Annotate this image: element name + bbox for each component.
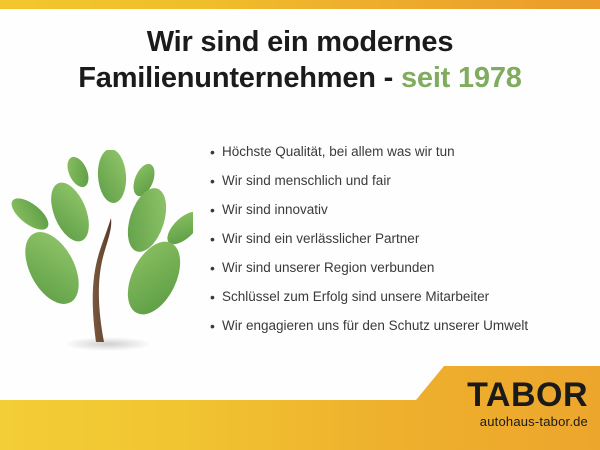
list-item: • Wir sind unserer Region verbunden: [210, 258, 595, 287]
list-item: • Wir sind menschlich und fair: [210, 171, 595, 200]
bullet-marker-icon: •: [210, 171, 222, 191]
list-item: • Höchste Qualität, bei allem was wir tu…: [210, 142, 595, 171]
tree-foliage: [8, 150, 193, 323]
tree-shadow: [64, 337, 152, 351]
brand-banner: TABOR autohaus-tabor.de: [0, 366, 600, 450]
headline-line-2-main: Familienunternehmen -: [78, 62, 401, 94]
list-item: • Schlüssel zum Erfolg sind unsere Mitar…: [210, 287, 595, 316]
headline-line-1: Wir sind ein modernes: [0, 24, 600, 60]
bullet-marker-icon: •: [210, 229, 222, 249]
bullet-marker-icon: •: [210, 142, 222, 162]
list-item-label: Wir engagieren uns für den Schutz unsere…: [222, 316, 528, 336]
bullet-marker-icon: •: [210, 316, 222, 336]
top-accent-bar: [0, 0, 600, 9]
list-item-label: Wir sind menschlich und fair: [222, 171, 391, 191]
tree-icon: [8, 150, 193, 355]
list-item-label: Wir sind unserer Region verbunden: [222, 258, 434, 278]
list-item-label: Wir sind ein verlässlicher Partner: [222, 229, 419, 249]
list-item: • Wir sind ein verlässlicher Partner: [210, 229, 595, 258]
list-item-label: Wir sind innovativ: [222, 200, 328, 220]
tree-trunk: [93, 218, 112, 342]
list-item: • Wir sind innovativ: [210, 200, 595, 229]
headline-accent-year: seit 1978: [401, 62, 522, 94]
logo-wordmark: TABOR: [467, 377, 588, 413]
value-list: • Höchste Qualität, bei allem was wir tu…: [210, 142, 595, 345]
logo-tagline: autohaus-tabor.de: [467, 414, 588, 430]
list-item-label: Höchste Qualität, bei allem was wir tun: [222, 142, 455, 162]
slide-canvas: Wir sind ein modernes Familienunternehme…: [0, 0, 600, 450]
bullet-marker-icon: •: [210, 200, 222, 220]
headline-line-2: Familienunternehmen - seit 1978: [0, 60, 600, 96]
bullet-marker-icon: •: [210, 258, 222, 278]
bullet-marker-icon: •: [210, 287, 222, 307]
brand-logo[interactable]: TABOR autohaus-tabor.de: [467, 377, 588, 430]
page-title: Wir sind ein modernes Familienunternehme…: [0, 24, 600, 96]
list-item-label: Schlüssel zum Erfolg sind unsere Mitarbe…: [222, 287, 489, 307]
list-item: • Wir engagieren uns für den Schutz unse…: [210, 316, 595, 345]
